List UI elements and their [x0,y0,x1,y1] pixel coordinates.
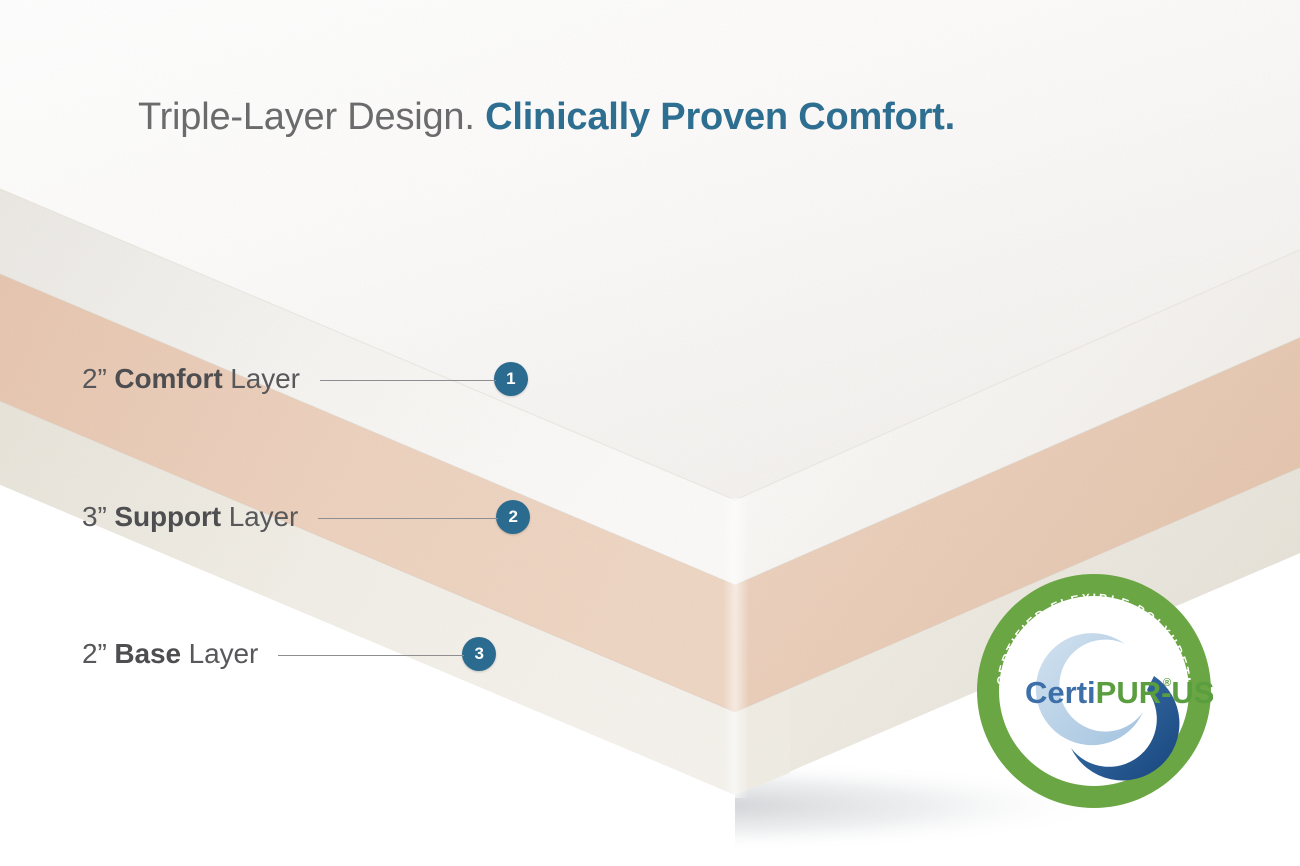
callout-name-1: Comfort [114,363,222,394]
callout-support-layer: 3” Support Layer 2 [82,500,530,534]
certipur-us-badge[interactable]: CONTAINS CERTIFIED FLEXIBLE POLYURETHANE… [975,572,1213,810]
leader-line-2 [318,518,498,519]
layer-marker-2[interactable]: 2 [496,500,530,534]
callout-label-2: 3” Support Layer [82,501,298,533]
headline-part-one: Triple-Layer Design. [138,96,475,138]
callout-name-3: Base [114,638,181,669]
layer-marker-1[interactable]: 1 [494,362,528,396]
callout-suffix-1: Layer [230,363,300,394]
callout-thickness-2: 3” [82,501,107,532]
wordmark-trademark: ® [1163,677,1171,689]
callout-label-1: 2” Comfort Layer [82,363,300,395]
leader-line-3 [278,655,464,656]
callout-base-layer: 2” Base Layer 3 [82,637,496,671]
infographic-canvas: Triple-Layer Design. Clinically Proven C… [0,0,1300,866]
callout-thickness-1: 2” [82,363,107,394]
wordmark-purus: PUR-US [1096,675,1213,710]
svg-text:CertiPUR-US: CertiPUR-US [1025,675,1213,710]
callout-thickness-3: 2” [82,638,107,669]
page-title: Triple-Layer Design. Clinically Proven C… [138,96,955,139]
layer-marker-3[interactable]: 3 [462,637,496,671]
leader-line-1 [320,380,496,381]
corner-edge-highlight [723,498,749,798]
headline-part-two: Clinically Proven Comfort. [485,96,955,138]
callout-name-2: Support [114,501,221,532]
callout-comfort-layer: 2” Comfort Layer 1 [82,362,528,396]
callout-label-3: 2” Base Layer [82,638,258,670]
badge-wordmark: CertiPUR-US ® [1025,675,1213,710]
callout-suffix-3: Layer [189,638,259,669]
wordmark-certi: Certi [1025,675,1096,710]
callout-suffix-2: Layer [229,501,299,532]
